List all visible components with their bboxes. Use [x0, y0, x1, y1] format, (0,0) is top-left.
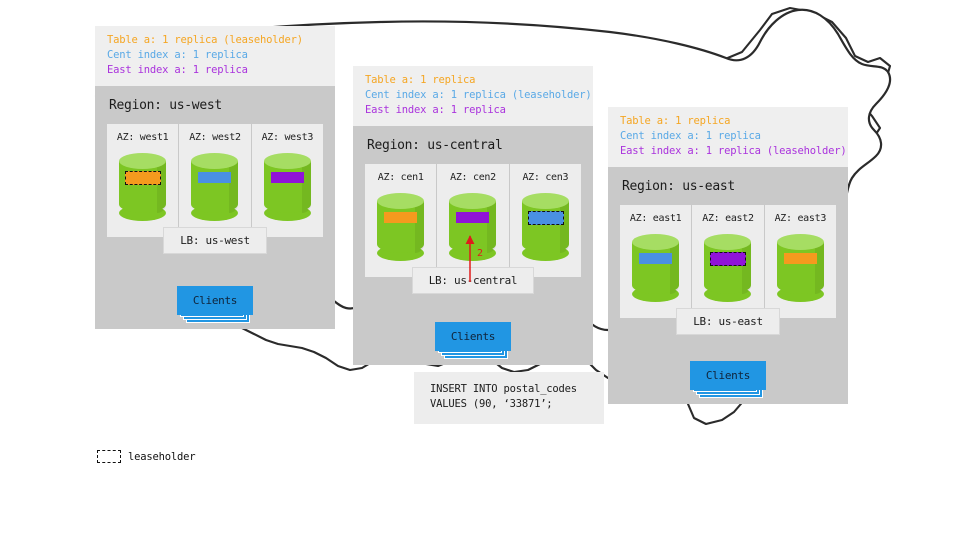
az-label-west1: AZ: west1 — [117, 132, 169, 143]
cylinder-top — [191, 153, 238, 169]
az-label-cen1: AZ: cen1 — [378, 172, 424, 183]
load-balancer-us-east[interactable]: LB: us-east — [676, 308, 780, 335]
cylinder-top — [377, 193, 424, 209]
az-cell-cen3[interactable]: AZ: cen3 — [510, 164, 581, 277]
sql-statement-note: INSERT INTO postal_codes VALUES (90, ‘33… — [414, 372, 604, 424]
clients-button-us-east[interactable]: Clients — [690, 361, 766, 390]
cylinder-top — [522, 193, 569, 209]
clients-label[interactable]: Clients — [690, 361, 766, 390]
cylinder-top — [264, 153, 311, 169]
region-body-us-east: Region: us-east AZ: east1 AZ: east2 — [608, 167, 848, 404]
replica-band-leaseholder — [125, 171, 161, 185]
region-title-us-west: Region: us-west — [107, 86, 323, 124]
az-label-east3: AZ: east3 — [775, 213, 827, 224]
replica-band-leaseholder — [710, 252, 746, 266]
replica-line-table: Table a: 1 replica — [620, 114, 838, 129]
replica-line-cent: Cent index a: 1 replica — [620, 129, 838, 144]
node-cylinder-east1[interactable] — [632, 234, 679, 302]
replica-line-cent: Cent index a: 1 replica (leaseholder) — [365, 88, 583, 103]
region-panel-us-east: Table a: 1 replica Cent index a: 1 repli… — [608, 107, 848, 404]
az-cell-east1[interactable]: AZ: east1 — [620, 205, 692, 318]
node-cylinder-west1[interactable] — [119, 153, 166, 221]
clients-button-us-central[interactable]: Clients — [435, 322, 511, 351]
replica-band — [456, 212, 489, 223]
az-cell-west3[interactable]: AZ: west3 — [252, 124, 323, 237]
region-title-us-central: Region: us-central — [365, 126, 581, 164]
region-title-us-east: Region: us-east — [620, 167, 836, 205]
node-cylinder-east2[interactable] — [704, 234, 751, 302]
region-body-us-west: Region: us-west AZ: west1 AZ: west2 — [95, 86, 335, 329]
replica-summary-us-east: Table a: 1 replica Cent index a: 1 repli… — [608, 107, 848, 167]
cylinder-top — [632, 234, 679, 250]
az-cell-cen1[interactable]: AZ: cen1 — [365, 164, 437, 277]
replica-line-east: East index a: 1 replica — [107, 63, 325, 78]
load-balancer-us-west[interactable]: LB: us-west — [163, 227, 267, 254]
replica-line-east: East index a: 1 replica (leaseholder) — [620, 144, 838, 159]
replica-line-table: Table a: 1 replica — [365, 73, 583, 88]
clients-button-us-west[interactable]: Clients — [177, 286, 253, 315]
leaseholder-legend: leaseholder — [97, 450, 195, 463]
clients-label[interactable]: Clients — [177, 286, 253, 315]
az-strip-us-east: AZ: east1 AZ: east2 AZ: east3 — [620, 205, 836, 318]
az-label-west2: AZ: west2 — [189, 132, 241, 143]
region-panel-us-central: Table a: 1 replica Cent index a: 1 repli… — [353, 66, 593, 365]
replica-line-cent: Cent index a: 1 replica — [107, 48, 325, 63]
node-cylinder-west3[interactable] — [264, 153, 311, 221]
az-cell-west2[interactable]: AZ: west2 — [179, 124, 251, 237]
replica-line-table: Table a: 1 replica (leaseholder) — [107, 33, 325, 48]
node-cylinder-cen3[interactable] — [522, 193, 569, 261]
node-cylinder-cen1[interactable] — [377, 193, 424, 261]
node-cylinder-west2[interactable] — [191, 153, 238, 221]
az-cell-east2[interactable]: AZ: east2 — [692, 205, 764, 318]
region-panel-us-west: Table a: 1 replica (leaseholder) Cent in… — [95, 26, 335, 329]
node-cylinder-east3[interactable] — [777, 234, 824, 302]
replica-band — [784, 253, 817, 264]
az-cell-east3[interactable]: AZ: east3 — [765, 205, 836, 318]
replica-summary-us-west: Table a: 1 replica (leaseholder) Cent in… — [95, 26, 335, 86]
az-label-cen2: AZ: cen2 — [450, 172, 496, 183]
cylinder-top — [777, 234, 824, 250]
az-cell-west1[interactable]: AZ: west1 — [107, 124, 179, 237]
replica-summary-us-central: Table a: 1 replica Cent index a: 1 repli… — [353, 66, 593, 126]
az-strip-us-west: AZ: west1 AZ: west2 AZ: west3 — [107, 124, 323, 237]
replica-band — [271, 172, 304, 183]
replica-band — [198, 172, 231, 183]
leaseholder-legend-label: leaseholder — [128, 451, 195, 463]
replica-band — [384, 212, 417, 223]
az-label-east2: AZ: east2 — [702, 213, 754, 224]
cylinder-top — [119, 153, 166, 169]
leaseholder-swatch-icon — [97, 450, 121, 463]
replica-band — [639, 253, 672, 264]
cylinder-top — [449, 193, 496, 209]
az-label-east1: AZ: east1 — [630, 213, 682, 224]
replica-band-leaseholder — [528, 211, 564, 225]
az-label-cen3: AZ: cen3 — [522, 172, 568, 183]
replica-line-east: East index a: 1 replica — [365, 103, 583, 118]
cylinder-top — [704, 234, 751, 250]
clients-label[interactable]: Clients — [435, 322, 511, 351]
az-label-west3: AZ: west3 — [262, 132, 314, 143]
arrow-step-number: 2 — [477, 248, 483, 259]
